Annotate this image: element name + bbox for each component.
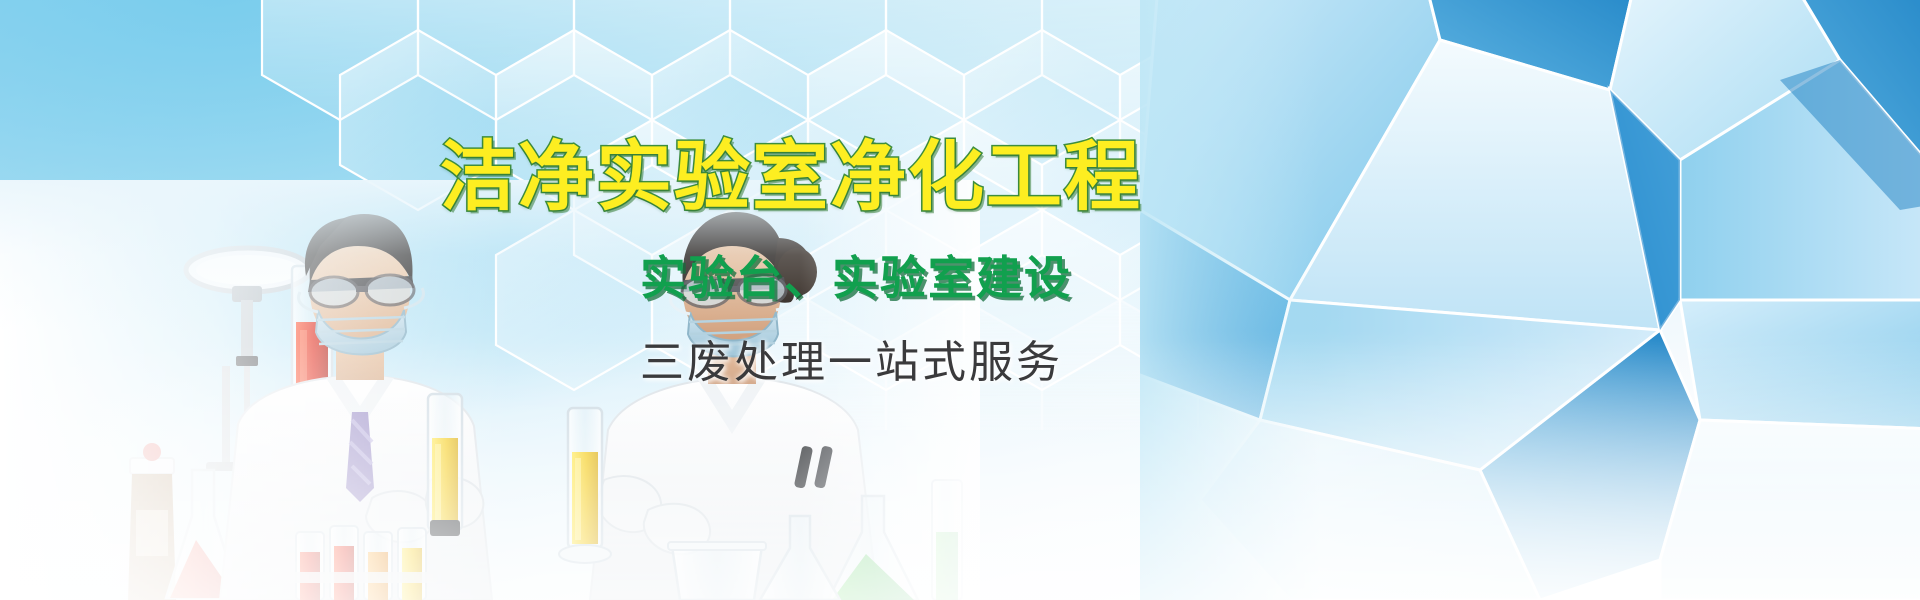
glass-tube-right	[932, 480, 962, 600]
magnifier-stand	[186, 248, 310, 476]
red-erlenmeyer-flask	[166, 470, 240, 598]
brown-reagent-bottle	[128, 443, 176, 600]
blue-crystal-polygons	[1140, 0, 1920, 600]
test-tube-rack	[284, 526, 438, 600]
red-graduated-cylinder	[292, 266, 332, 566]
beaker	[668, 542, 766, 600]
banner-copy: 洁净实验室净化工程 实验台、实验室建设 三废处理一站式服务	[440, 138, 1200, 390]
clear-flask	[760, 516, 840, 600]
banner-tagline: 三废处理一站式服务	[640, 326, 1200, 390]
green-flask	[828, 496, 918, 600]
promo-banner: 洁净实验室净化工程 实验台、实验室建设 三废处理一站式服务	[0, 0, 1920, 600]
banner-headline: 洁净实验室净化工程	[440, 138, 1200, 216]
banner-subline: 实验台、实验室建设	[640, 242, 1200, 308]
